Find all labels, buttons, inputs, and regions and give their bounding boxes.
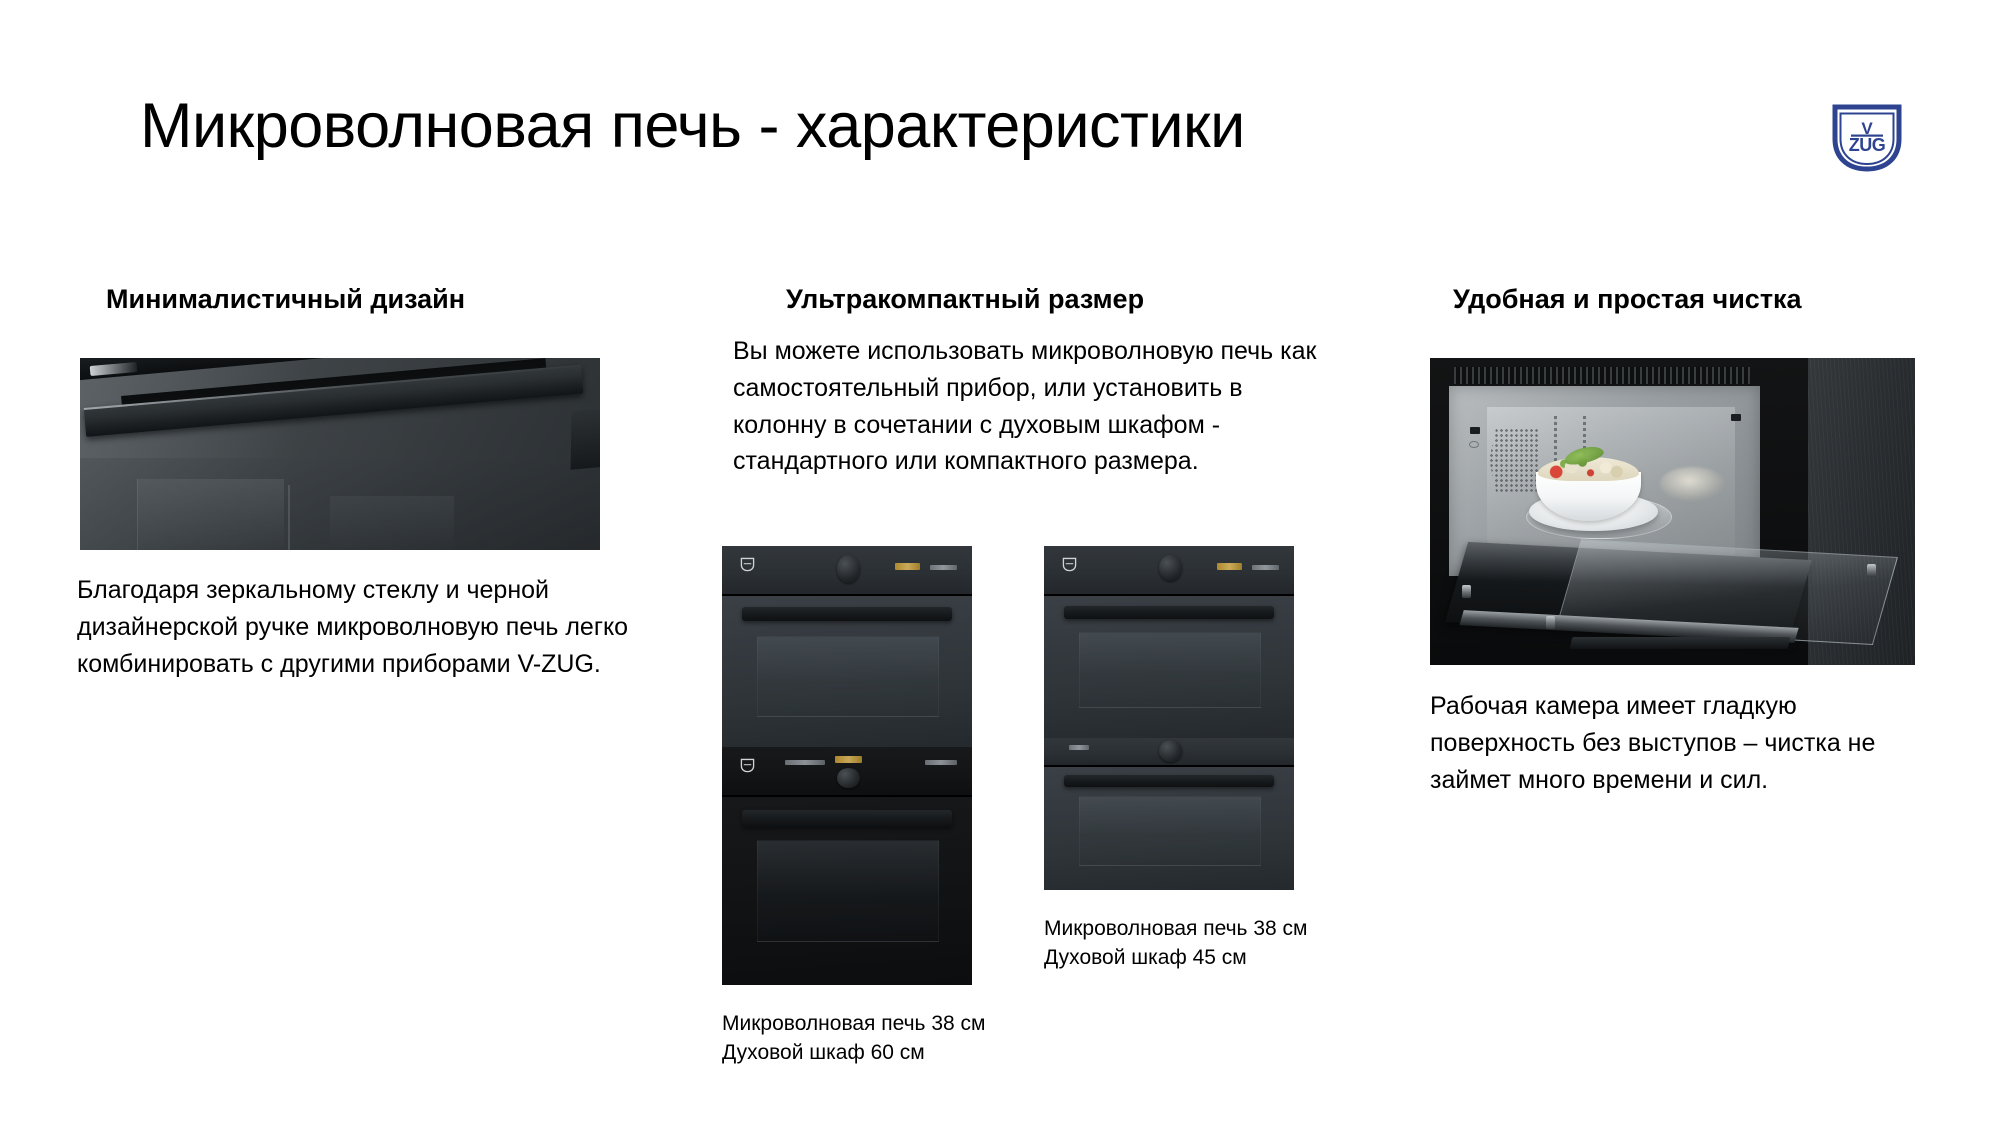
- image-oven-column-45: [1044, 546, 1294, 888]
- column-body-easy-cleaning: Рабочая камера имеет гладкую поверхность…: [1430, 688, 1930, 798]
- image-microwave-handle-closeup: [80, 358, 600, 550]
- v-zug-badge-icon: [740, 758, 755, 773]
- column-heading-easy-cleaning: Удобная и простая чистка: [1453, 284, 1802, 315]
- caption-line-2: Духовой шкаф 60 см: [722, 1038, 985, 1067]
- svg-text:ZUG: ZUG: [1849, 135, 1886, 155]
- v-zug-badge-icon: [740, 557, 755, 572]
- v-zug-badge-icon: [1062, 557, 1077, 572]
- image-open-microwave-interior: [1430, 358, 1915, 665]
- caption-line-1: Микроволновая печь 38 см: [722, 1009, 985, 1038]
- image-oven-column-60: [722, 546, 972, 983]
- caption-oven-column-45: Микроволновая печь 38 см Духовой шкаф 45…: [1044, 914, 1307, 973]
- slide-root: V ZUG Микроволновая печь - характеристик…: [0, 0, 2000, 1125]
- caption-line-1: Микроволновая печь 38 см: [1044, 914, 1307, 943]
- caption-line-2: Духовой шкаф 45 см: [1044, 943, 1307, 972]
- v-zug-logo: V ZUG: [1831, 103, 1903, 173]
- column-body-ultra-compact: Вы можете использовать микроволновую печ…: [733, 333, 1333, 480]
- v-zug-shield-icon: V ZUG: [1831, 103, 1903, 173]
- caption-oven-column-60: Микроволновая печь 38 см Духовой шкаф 60…: [722, 1009, 985, 1068]
- column-heading-ultra-compact: Ультракомпактный размер: [786, 284, 1144, 315]
- column-heading-minimal-design: Минималистичный дизайн: [106, 284, 465, 315]
- column-body-minimal-design: Благодаря зеркальному стеклу и черной ди…: [77, 572, 657, 682]
- page-title: Микроволновая печь - характеристики: [140, 92, 1800, 160]
